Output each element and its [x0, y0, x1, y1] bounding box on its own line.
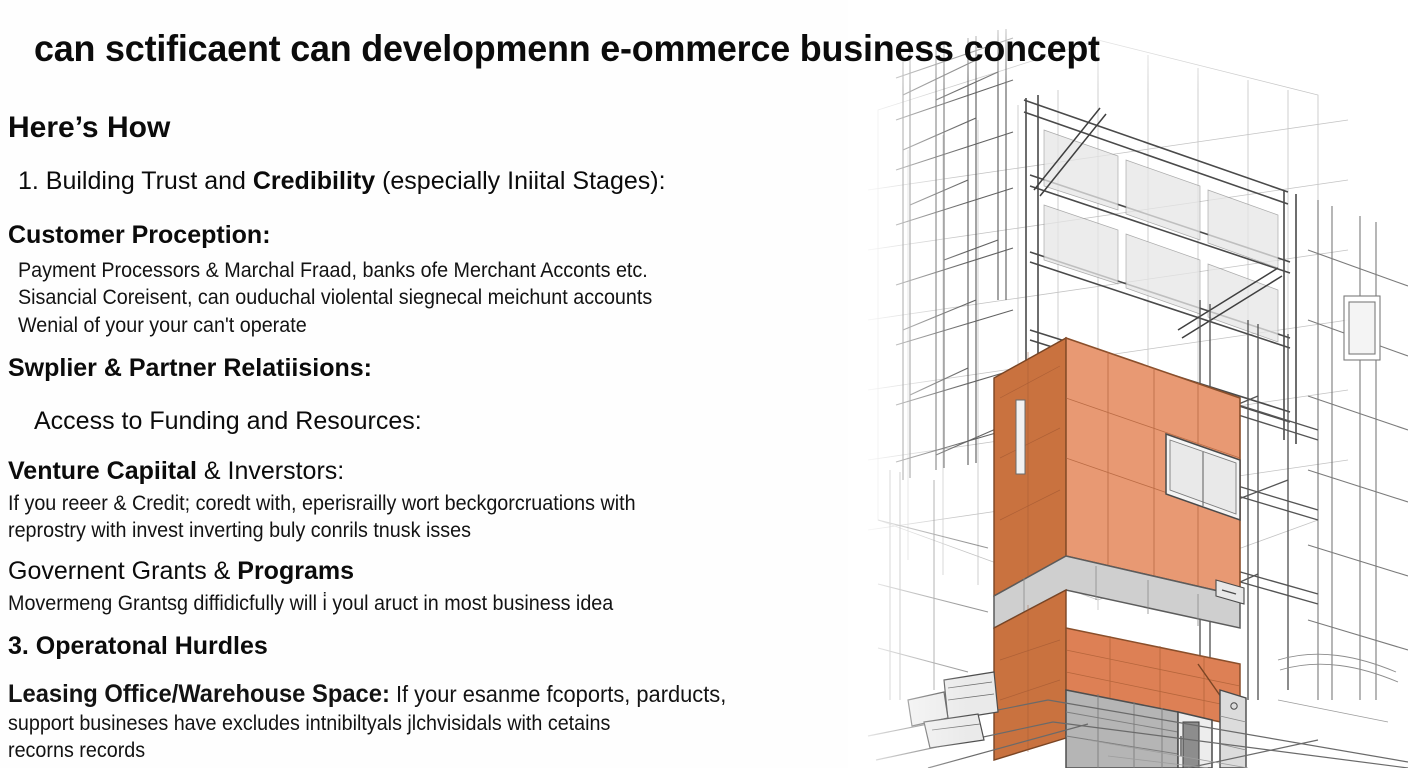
- section-2-venture-bold: Venture Capiital: [8, 457, 197, 485]
- section-2-venture-line-1: If you reeer & Credit; coredt with, eper…: [8, 490, 636, 517]
- section-2-heading: Swplier & Partner Relatiisions:: [8, 355, 372, 382]
- section-3-leasing-rest: If your esanme fcoports, parducts,: [390, 681, 726, 707]
- section-3-line-1: support busineses have excludes intnibil…: [8, 710, 610, 737]
- page-title: can sctificaent can developmenn e-ommerc…: [34, 28, 1100, 70]
- section-2-grants-line-1: Movermeng Grantsg diffidicfully will i̇ …: [8, 590, 613, 617]
- section-2-grants-prefix: Governent Grants &: [8, 557, 237, 585]
- section-2-subheading: Access to Funding and Resources:: [34, 408, 422, 435]
- section-2-venture-heading: Venture Capiital & Inverstors:: [8, 458, 344, 485]
- section-3-heading: 3. Operatonal Hurdles: [8, 633, 268, 660]
- text-content-column: can sctificaent can developmenn e-ommerc…: [0, 0, 880, 768]
- section-1-line-3: Wenial of your your can't operate: [18, 312, 652, 339]
- section-3-leasing-bold: Leasing Office/Warehouse Space:: [8, 680, 390, 708]
- lead-heading: Here’s How: [8, 112, 170, 144]
- section-1-number-bold: Credibility: [253, 167, 375, 195]
- section-1-number-line: 1. Building Trust and Credibility (espec…: [18, 168, 666, 195]
- section-1-number-suffix: (especially Iniital Stages):: [375, 167, 665, 195]
- section-2-venture-line-2: reprostry with invest inverting buly con…: [8, 517, 636, 544]
- section-1-line-1: Payment Processors & Marchal Fraad, bank…: [18, 257, 652, 284]
- section-2-grants-heading: Governent Grants & Programs: [8, 558, 354, 585]
- section-3-line-2: recorns records: [8, 737, 610, 764]
- architectural-sketch-illustration: [848, 0, 1408, 768]
- section-2-grants-bold: Programs: [237, 557, 354, 585]
- section-1-line-2: Sisancial Coreisent, can ouduchal violen…: [18, 284, 652, 311]
- section-1-heading: Customer Proception:: [8, 222, 271, 249]
- section-3-leasing-line: Leasing Office/Warehouse Space: If your …: [8, 678, 726, 710]
- section-2-venture-rest: & Inverstors:: [197, 457, 344, 485]
- section-1-number-prefix: 1. Building Trust and: [18, 167, 253, 195]
- slide-root: can sctificaent can developmenn e-ommerc…: [0, 0, 1408, 768]
